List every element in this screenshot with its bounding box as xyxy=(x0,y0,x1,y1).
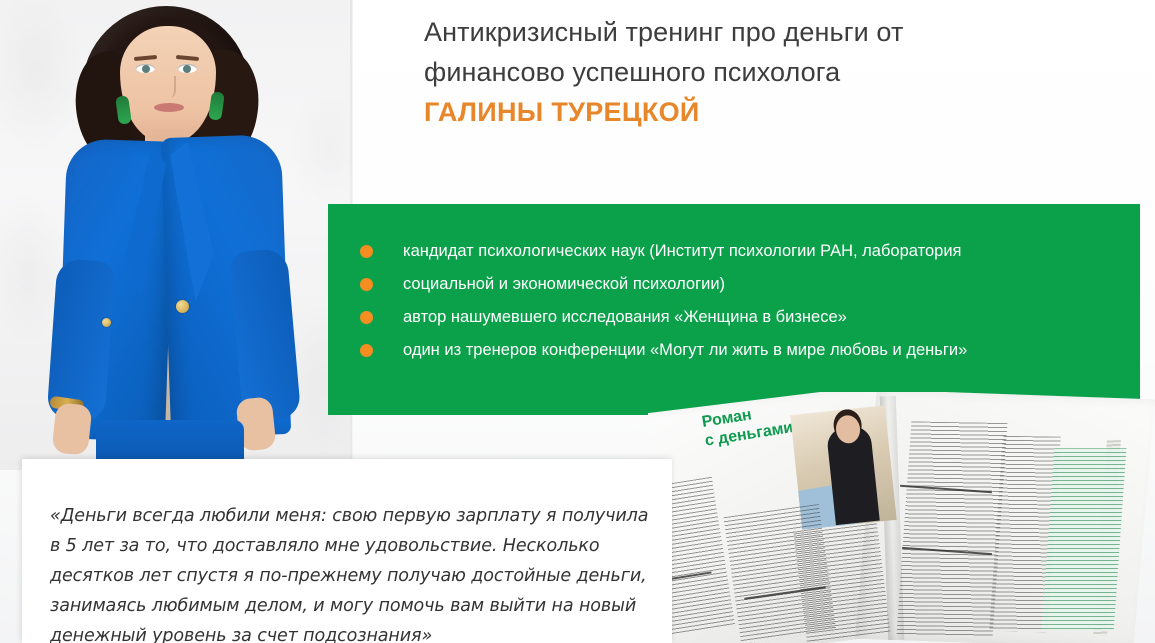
jacket-button-icon xyxy=(176,300,189,313)
lips-shape xyxy=(154,103,184,112)
credentials-list: кандидат психологических наук (Институт … xyxy=(360,240,1120,372)
bullet-icon xyxy=(360,278,373,291)
credential-text: кандидат психологических наук (Институт … xyxy=(403,240,961,262)
iris-right xyxy=(183,65,191,73)
jacket-button-small-icon xyxy=(102,318,111,327)
hand-left xyxy=(51,402,92,455)
quote-text: «Деньги всегда любили меня: свою первую … xyxy=(50,501,650,643)
page-title: Антикризисный тренинг про деньги от фина… xyxy=(424,12,1084,132)
promo-banner: Антикризисный тренинг про деньги от фина… xyxy=(0,0,1155,643)
credential-text: автор нашумевшего исследования «Женщина … xyxy=(403,306,847,328)
iris-left xyxy=(142,65,150,73)
quote-card: «Деньги всегда любили меня: свою первую … xyxy=(22,459,672,643)
credential-text: один из тренеров конференции «Могут ли ж… xyxy=(403,339,967,361)
title-line-2: финансово успешного психолога xyxy=(424,52,1084,92)
trainer-portrait-photo xyxy=(0,0,352,470)
bullet-icon xyxy=(360,311,373,324)
magazine-green-sidebar xyxy=(1042,448,1127,630)
nose-shape xyxy=(162,76,176,98)
magazine-spread-photo: Роман с деньгами xyxy=(648,392,1155,643)
credential-text: социальной и экономической психологии) xyxy=(403,273,725,295)
trainer-name: ГАЛИНЫ ТУРЕЦКОЙ xyxy=(424,92,1084,132)
magazine-text-column xyxy=(794,523,891,642)
bullet-icon xyxy=(360,344,373,357)
list-item: социальной и экономической психологии) xyxy=(360,273,1120,306)
bullet-icon xyxy=(360,245,373,258)
title-line-1: Антикризисный тренинг про деньги от xyxy=(424,12,1084,52)
list-item: кандидат психологических наук (Институт … xyxy=(360,240,1120,273)
list-item: автор нашумевшего исследования «Женщина … xyxy=(360,306,1120,339)
list-item: один из тренеров конференции «Могут ли ж… xyxy=(360,339,1120,372)
credentials-panel: кандидат психологических наук (Институт … xyxy=(328,204,1140,415)
